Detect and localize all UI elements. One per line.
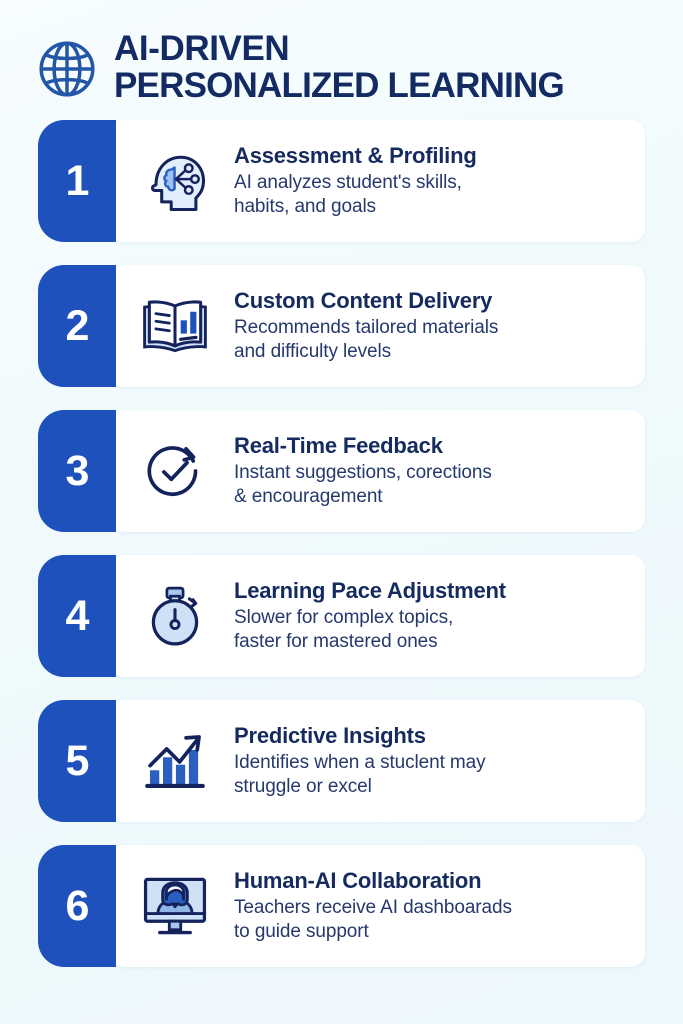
step-description: Recommends tailored materials and diffic… xyxy=(234,316,629,364)
head-brain-ai-icon xyxy=(116,120,234,242)
step-number-badge: 2 xyxy=(38,265,116,387)
step-description: Teachers receive AI dashboarads to guide… xyxy=(234,896,629,944)
globe-icon xyxy=(34,36,100,102)
step-number: 2 xyxy=(66,305,89,348)
step-number-badge: 6 xyxy=(38,845,116,967)
step-title: Predictive Insights xyxy=(234,723,629,749)
step-number: 1 xyxy=(66,160,89,203)
step-description: Instant suggestions, corections & encour… xyxy=(234,461,629,509)
step-description: AI analyzes student's skills, habits, an… xyxy=(234,171,629,219)
step-title: Real-Time Feedback xyxy=(234,433,629,459)
step-number-badge: 1 xyxy=(38,120,116,242)
list-item: 5 Predictive Insights Identifies when a … xyxy=(38,700,645,822)
title-line-2: PERSONALIZED LEARNING xyxy=(114,67,663,104)
step-title: Human-AI Collaboration xyxy=(234,868,629,894)
step-number: 3 xyxy=(66,450,89,493)
step-title: Assessment & Profiling xyxy=(234,143,629,169)
list-item: 2 Custom Content De xyxy=(38,265,645,387)
step-text: Real-Time Feedback Instant suggestions, … xyxy=(234,410,645,532)
step-text: Predictive Insights Identifies when a st… xyxy=(234,700,645,822)
bar-chart-growth-arrow-icon xyxy=(116,700,234,822)
step-title: Learning Pace Adjustment xyxy=(234,578,629,604)
title-line-1: AI-DRIVEN xyxy=(114,30,663,67)
step-text: Human-AI Collaboration Teachers receive … xyxy=(234,845,645,967)
step-number: 4 xyxy=(66,595,89,638)
monitor-teacher-icon xyxy=(116,845,234,967)
open-book-chart-icon xyxy=(116,265,234,387)
list-item: 6 Human-AI Collaboration Teachers receiv… xyxy=(38,845,645,967)
infographic-poster: AI-DRIVEN PERSONALIZED LEARNING 1 xyxy=(0,0,683,1024)
circular-arrow-check-icon xyxy=(116,410,234,532)
step-description: Slower for complex topics, faster for ma… xyxy=(234,606,629,654)
list-item: 4 Learning Pace Adjustment Slower for co… xyxy=(38,555,645,677)
step-text: Learning Pace Adjustment Slower for comp… xyxy=(234,555,645,677)
step-title: Custom Content Delivery xyxy=(234,288,629,314)
page-title: AI-DRIVEN PERSONALIZED LEARNING xyxy=(114,30,663,105)
step-text: Custom Content Delivery Recommends tailo… xyxy=(234,265,645,387)
steps-list: 1 xyxy=(0,120,683,967)
step-number: 6 xyxy=(66,885,89,928)
step-number-badge: 5 xyxy=(38,700,116,822)
list-item: 1 xyxy=(38,120,645,242)
step-number-badge: 3 xyxy=(38,410,116,532)
step-number: 5 xyxy=(66,740,89,783)
stopwatch-icon xyxy=(116,555,234,677)
step-number-badge: 4 xyxy=(38,555,116,677)
step-description: Identifies when a stuclent may struggle … xyxy=(234,751,629,799)
poster-header: AI-DRIVEN PERSONALIZED LEARNING xyxy=(0,0,683,120)
list-item: 3 Real-Time Feedback Instant suggestions… xyxy=(38,410,645,532)
step-text: Assessment & Profiling AI analyzes stude… xyxy=(234,120,645,242)
